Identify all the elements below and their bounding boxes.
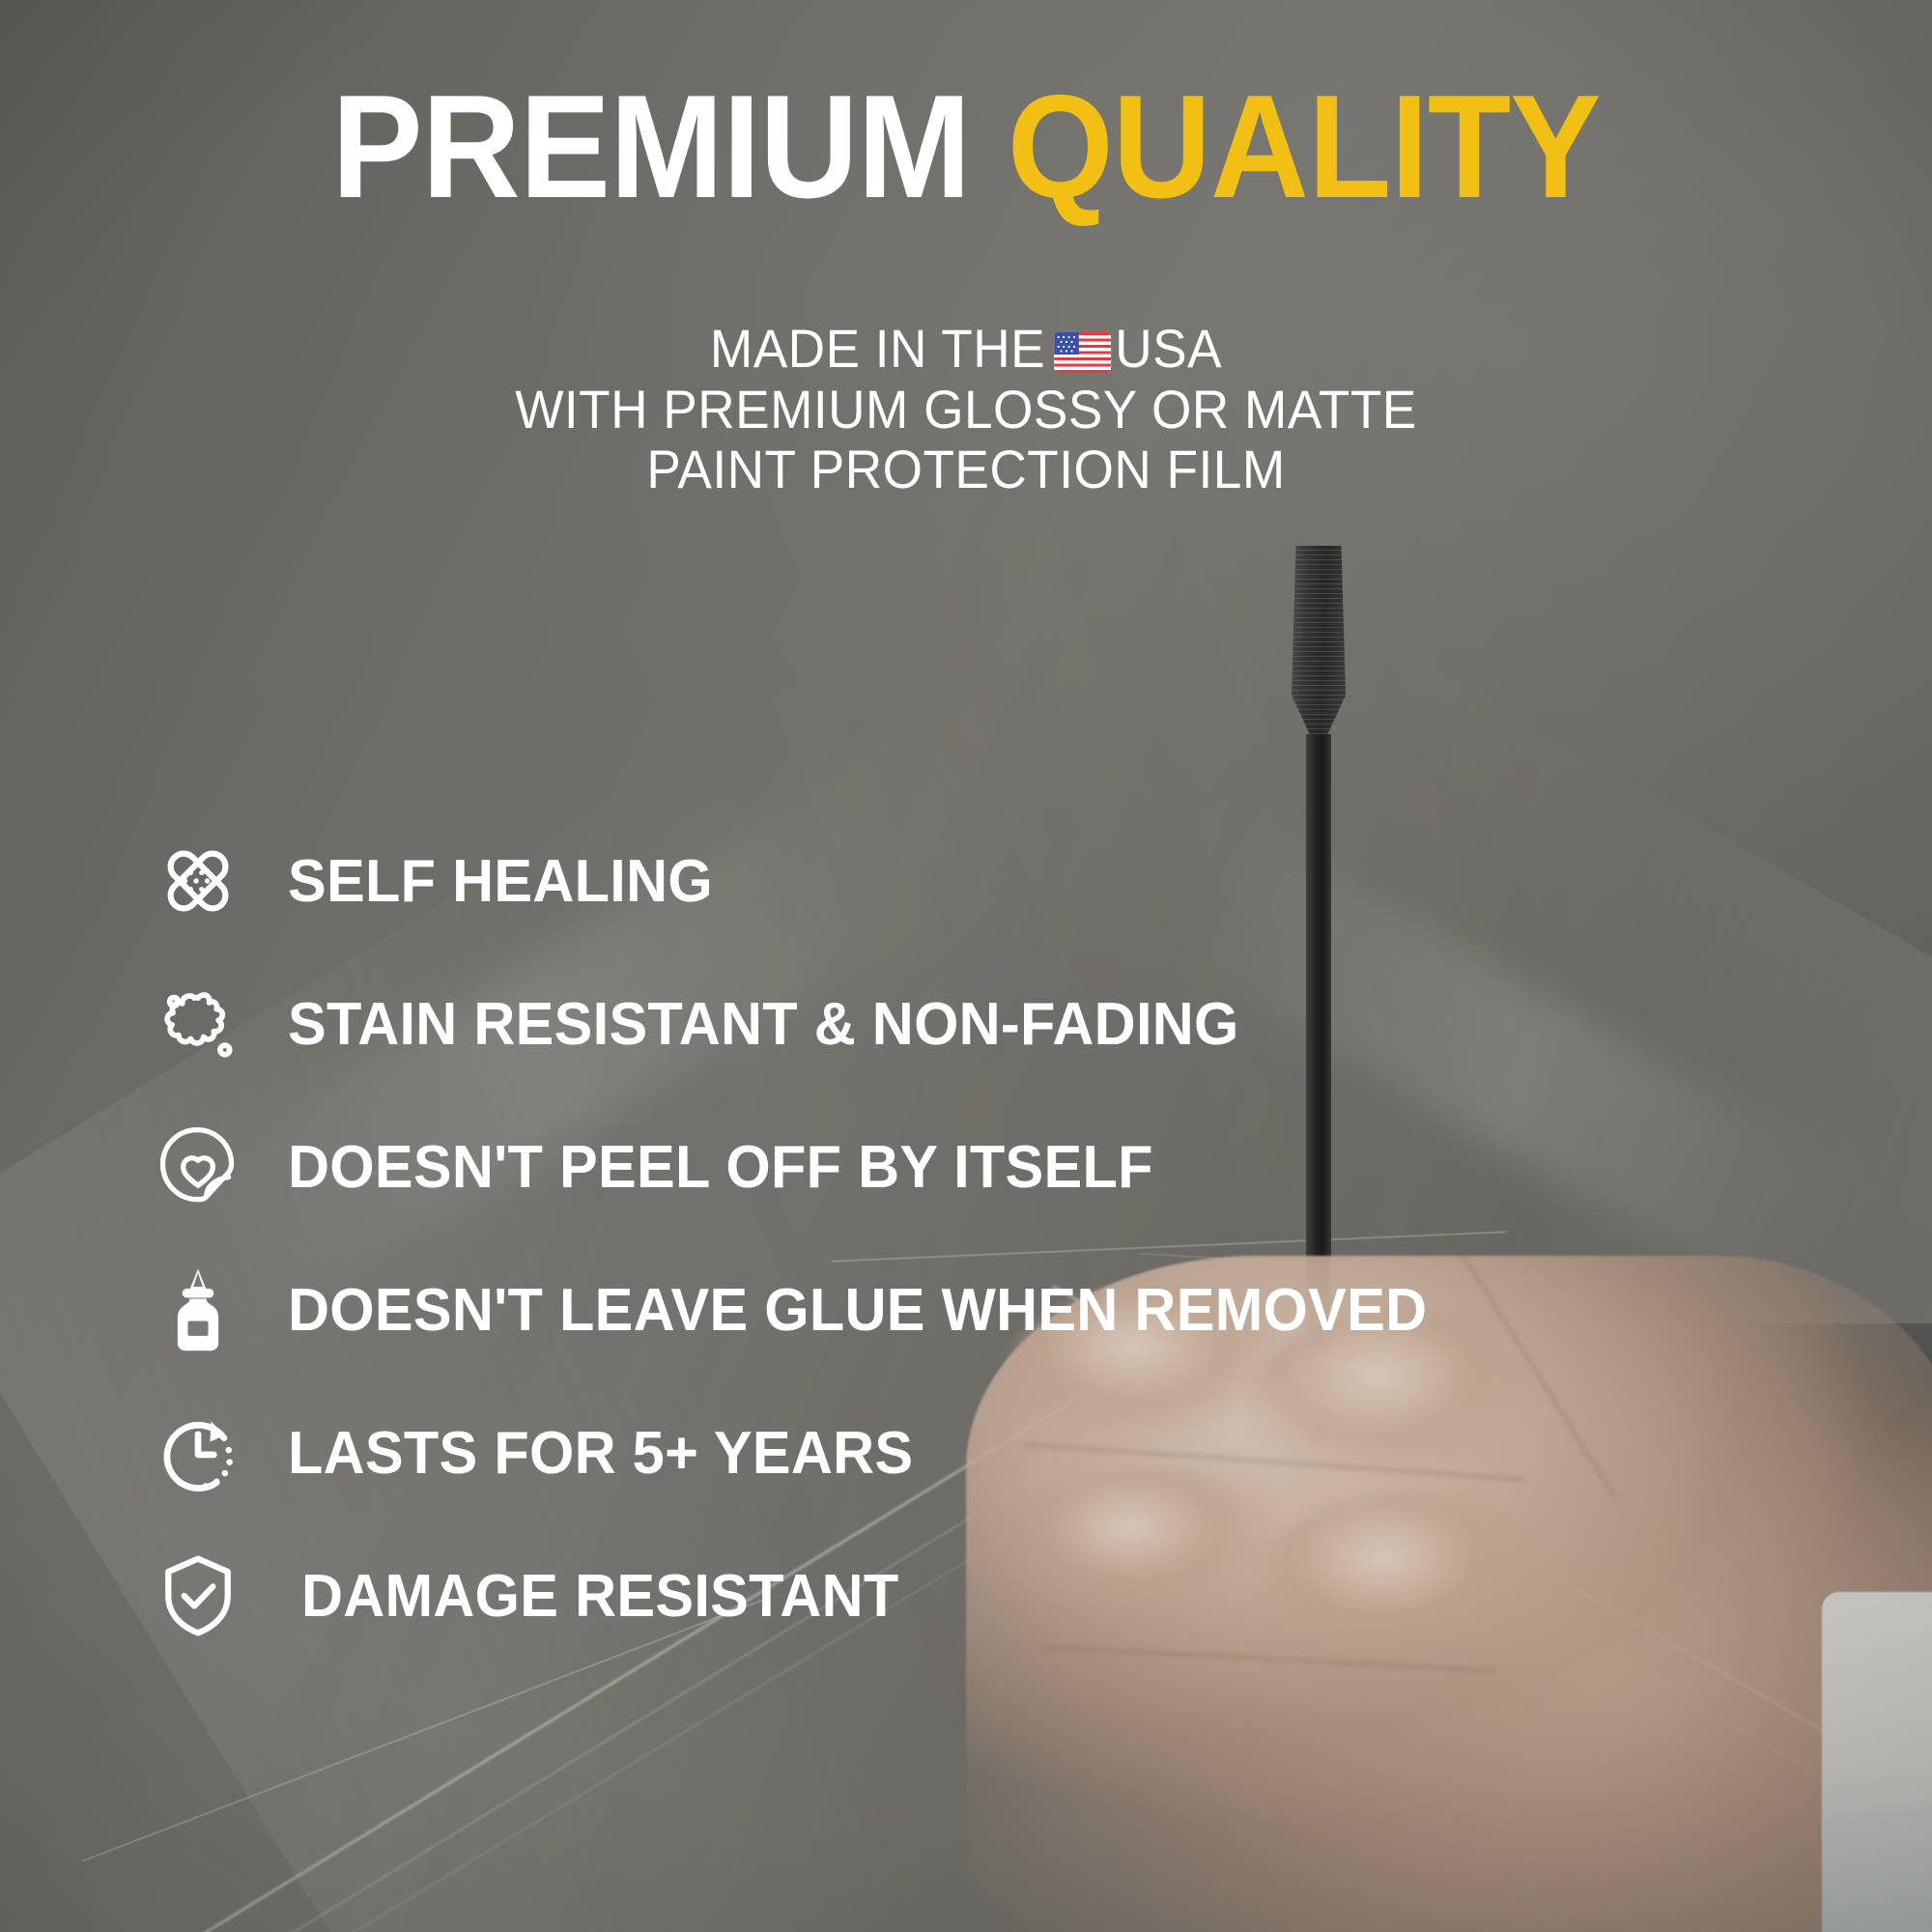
subheadline-made-in-the: MADE IN THE	[710, 318, 1045, 379]
shield-check-icon	[145, 1543, 251, 1649]
feature-label: STAIN RESISTANT & NON-FADING	[288, 990, 1239, 1059]
subheadline-line-3: PAINT PROTECTION FILM	[48, 440, 1884, 500]
headline-word-quality: QUALITY	[1008, 65, 1601, 229]
product-feature-poster: PREMIUM QUALITY MADE IN THEUSA WITH PREM…	[0, 0, 1932, 1932]
subheadline-usa: USA	[1115, 318, 1222, 379]
feature-label: LASTS FOR 5+ YEARS	[288, 1419, 913, 1488]
bandage-icon	[145, 828, 251, 934]
subheadline-line-1: MADE IN THEUSA	[48, 319, 1884, 380]
clock-arrow-icon	[145, 1400, 251, 1506]
peeling-sticker-heart-icon	[145, 1114, 251, 1220]
subheadline-line-2: WITH PREMIUM GLOSSY OR MATTE	[48, 380, 1884, 440]
page-title: PREMIUM QUALITY	[68, 73, 1864, 220]
headline-word-premium: PREMIUM	[331, 65, 970, 229]
feature-label: SELF HEALING	[288, 847, 713, 916]
subheadline: MADE IN THEUSA WITH PREMIUM GLOSSY OR MA…	[48, 319, 1884, 500]
stain-splatter-icon	[145, 971, 251, 1077]
feature-item-stain-resistant: STAIN RESISTANT & NON-FADING	[145, 952, 1884, 1095]
us-flag-icon	[1055, 332, 1112, 373]
feature-label: DAMAGE RESISTANT	[301, 1562, 899, 1631]
feature-label: DOESN'T LEAVE GLUE WHEN REMOVED	[288, 1276, 1427, 1345]
feature-item-no-peel: DOESN'T PEEL OFF BY ITSELF	[145, 1095, 1884, 1238]
feature-item-no-glue-residue: DOESN'T LEAVE GLUE WHEN REMOVED	[145, 1238, 1884, 1381]
poster-content: PREMIUM QUALITY MADE IN THEUSA WITH PREM…	[0, 0, 1932, 1932]
feature-list: SELF HEALING STAIN RESISTANT & NON-FADIN…	[145, 810, 1884, 1667]
glue-bottle-icon	[145, 1257, 251, 1363]
feature-item-self-healing: SELF HEALING	[145, 810, 1884, 952]
feature-label: DOESN'T PEEL OFF BY ITSELF	[288, 1133, 1153, 1202]
feature-item-damage-resistant: DAMAGE RESISTANT	[145, 1524, 1884, 1667]
feature-item-lifespan: LASTS FOR 5+ YEARS	[145, 1381, 1884, 1524]
